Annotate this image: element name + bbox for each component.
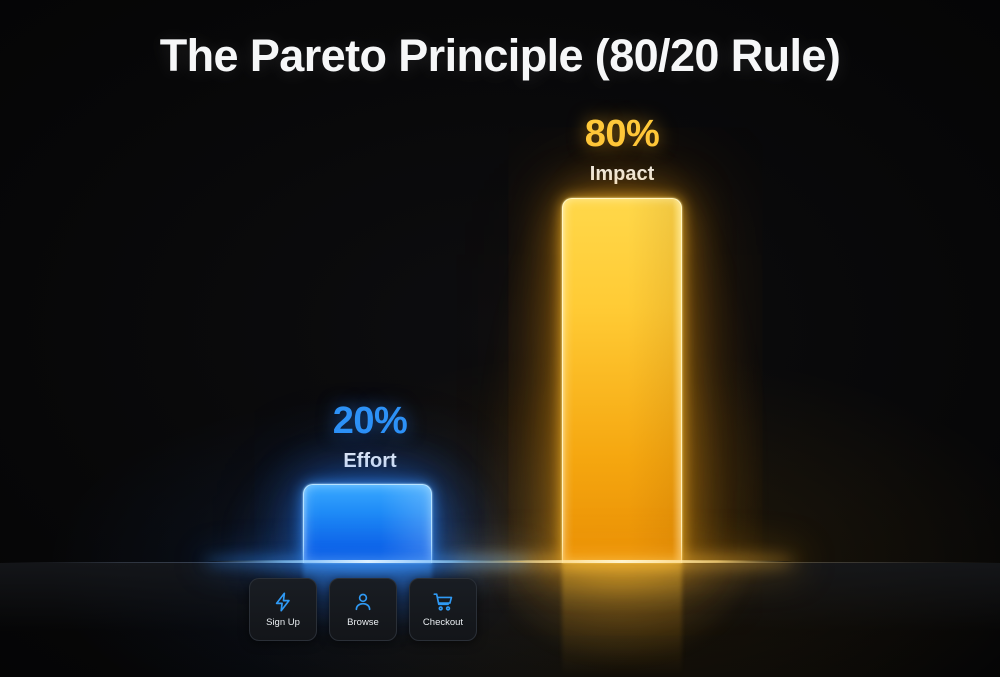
effort-bar-edge-glow	[303, 484, 432, 563]
action-card-label: Sign Up	[266, 618, 300, 628]
action-card-row: Sign Up Browse Checkout	[249, 578, 477, 641]
impact-value: 80%	[512, 115, 732, 153]
action-card-sign-up[interactable]: Sign Up	[249, 578, 317, 641]
impact-bar[interactable]	[562, 198, 682, 563]
action-card-label: Browse	[347, 618, 379, 628]
action-card-checkout[interactable]: Checkout	[409, 578, 477, 641]
floor-baseline	[0, 562, 1000, 563]
lightning-bolt-icon	[272, 591, 294, 613]
action-card-label: Checkout	[423, 618, 463, 628]
floor-haze	[0, 563, 1000, 677]
impact-caption: Impact	[512, 164, 732, 184]
pareto-chart-canvas: The Pareto Principle (80/20 Rule) 80% Im…	[0, 0, 1000, 677]
effort-value: 20%	[260, 402, 480, 440]
user-icon	[352, 591, 374, 613]
impact-label-group: 80% Impact	[512, 115, 732, 184]
action-card-browse[interactable]: Browse	[329, 578, 397, 641]
effort-bar[interactable]	[303, 484, 432, 563]
effort-label-group: 20% Effort	[260, 402, 480, 471]
page-title: The Pareto Principle (80/20 Rule)	[0, 30, 1000, 82]
shopping-cart-icon	[432, 591, 454, 613]
impact-bar-edge-glow	[562, 198, 682, 563]
effort-caption: Effort	[260, 451, 480, 471]
